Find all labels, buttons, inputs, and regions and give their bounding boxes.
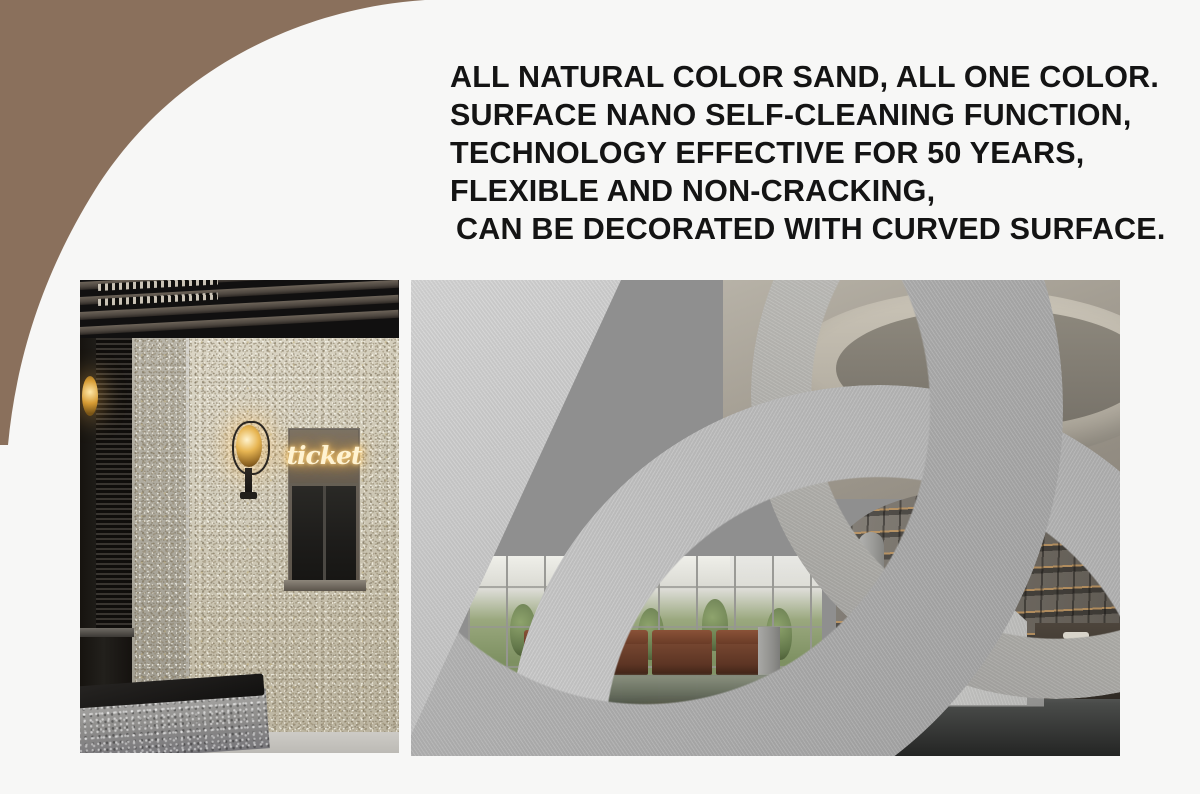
headline-line-2: SURFACE NANO SELF-CLEANING FUNCTION, [450, 96, 1150, 134]
headline-line-4: FLEXIBLE AND NON-CRACKING, [450, 172, 1150, 210]
wall-sconce-backplate [240, 492, 257, 499]
background-sconce-light [82, 376, 98, 416]
ticket-neon-sign: ticket [294, 437, 354, 473]
ticket-booth-facade-photo: ticket [80, 280, 399, 753]
ticket-window-sill [284, 580, 366, 591]
vertical-louvre-screen [96, 328, 132, 628]
ticket-window-mullion [323, 486, 326, 580]
lobby-scene [411, 280, 1120, 756]
headline-line-3: TECHNOLOGY EFFECTIVE FOR 50 YEARS, [450, 134, 1150, 172]
headline-line-1: ALL NATURAL COLOR SAND, ALL ONE COLOR. [450, 58, 1150, 96]
entry-sill [80, 628, 134, 637]
canopy-soffit [80, 280, 399, 338]
headline-line-5: CAN BE DECORATED WITH CURVED SURFACE. [450, 210, 1150, 248]
curved-lobby-interior-photo [411, 280, 1120, 756]
wall-sconce-cage [232, 421, 270, 475]
facade-scene: ticket [80, 280, 399, 753]
headline-block: ALL NATURAL COLOR SAND, ALL ONE COLOR. S… [450, 58, 1150, 248]
slide-canvas: ALL NATURAL COLOR SAND, ALL ONE COLOR. S… [0, 0, 1200, 794]
wall-sconce-arm [245, 468, 252, 494]
